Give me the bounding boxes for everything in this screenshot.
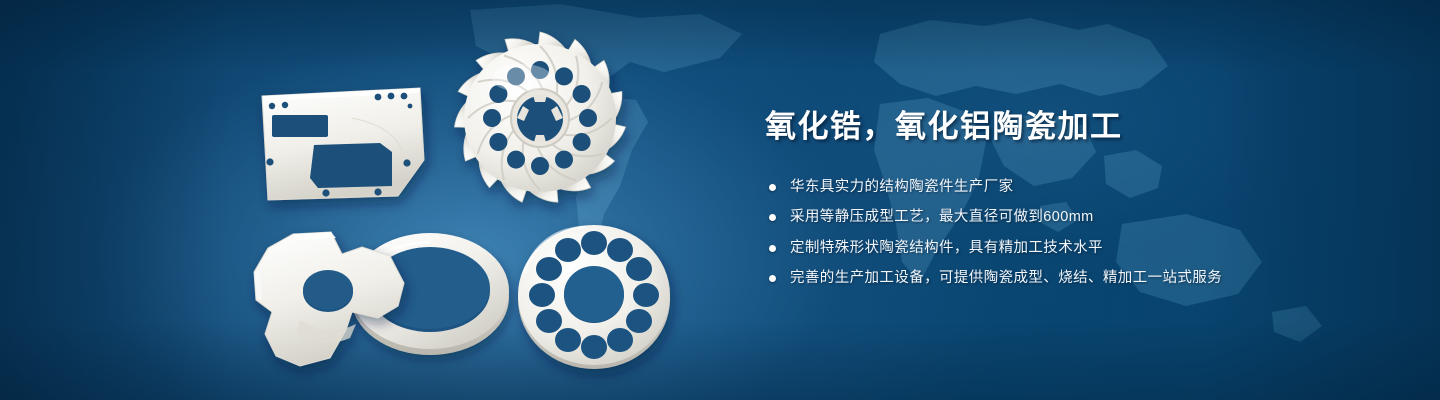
list-item: 采用等静压成型工艺，最大直径可做到600mm — [769, 208, 1385, 228]
list-item-label: 采用等静压成型工艺，最大直径可做到600mm — [790, 209, 1094, 225]
banner-copy: 氧化锆，氧化铝陶瓷加工 华东具实力的结构陶瓷件生产厂家 采用等静压成型工艺，最大… — [765, 108, 1385, 289]
bullet-dot-icon — [769, 214, 776, 221]
list-item: 定制特殊形状陶瓷结构件，具有精加工技术水平 — [769, 239, 1385, 259]
bullet-dot-icon — [769, 275, 776, 282]
list-item-label: 完善的生产加工设备，可提供陶瓷成型、烧结、精加工一站式服务 — [790, 270, 1222, 286]
page-title: 氧化锆，氧化铝陶瓷加工 — [765, 108, 1385, 147]
bullet-dot-icon — [769, 184, 776, 191]
ceramic-perforated-disc — [518, 225, 670, 369]
ceramic-plate — [262, 88, 424, 200]
list-item: 华东具实力的结构陶瓷件生产厂家 — [769, 178, 1385, 198]
ceramic-processing-banner: 氧化锆，氧化铝陶瓷加工 华东具实力的结构陶瓷件生产厂家 采用等静压成型工艺，最大… — [0, 0, 1440, 400]
ceramic-impeller — [452, 29, 630, 208]
list-item: 完善的生产加工设备，可提供陶瓷成型、烧结、精加工一站式服务 — [769, 269, 1385, 289]
feature-list: 华东具实力的结构陶瓷件生产厂家 采用等静压成型工艺，最大直径可做到600mm 定… — [769, 178, 1385, 289]
list-item-label: 华东具实力的结构陶瓷件生产厂家 — [790, 179, 1014, 195]
list-item-label: 定制特殊形状陶瓷结构件，具有精加工技术水平 — [790, 240, 1103, 256]
ceramic-products-image — [0, 0, 720, 400]
bullet-dot-icon — [769, 245, 776, 252]
